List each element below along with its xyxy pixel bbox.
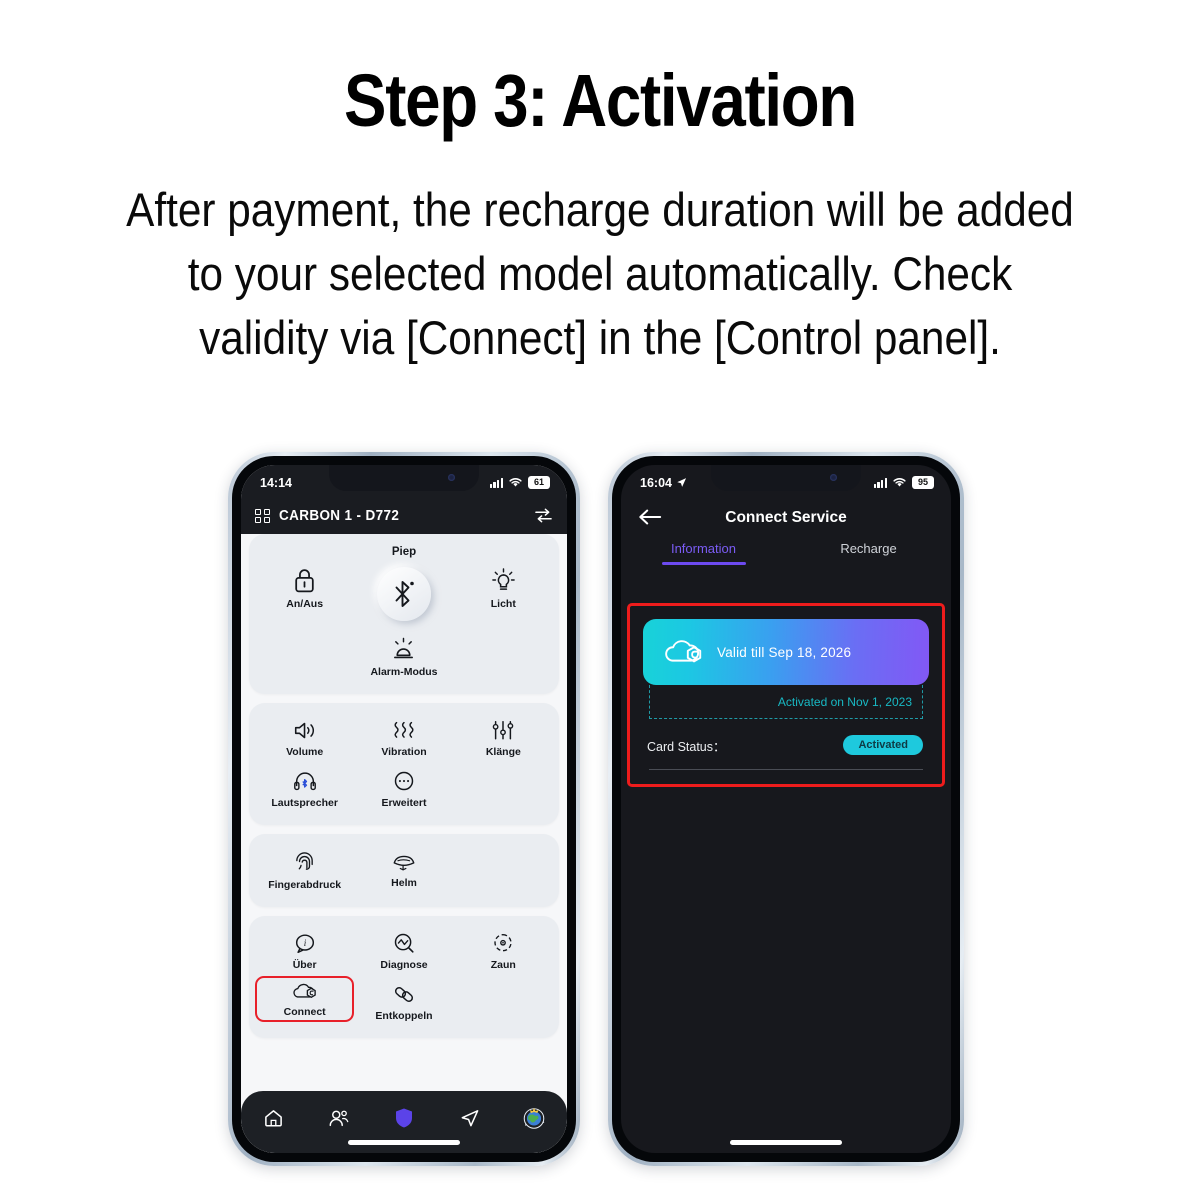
control-zaun[interactable]: Zaun: [454, 925, 553, 976]
home-indicator: [730, 1140, 842, 1145]
control-connect[interactable]: Connect: [255, 976, 354, 1022]
more-dots-circle-icon: [392, 770, 416, 793]
card-status-label: Card Status：: [647, 736, 726, 755]
wifi-icon: [508, 477, 523, 488]
activation-date: Activated on Nov 1, 2023: [778, 695, 912, 709]
phone-control-panel: 14:14 61: [228, 452, 580, 1166]
page-root: Step 3: Activation After payment, the re…: [0, 0, 1200, 1200]
home-icon: [263, 1108, 284, 1128]
control-label: Erweitert: [382, 797, 427, 809]
control-label: Über: [293, 959, 317, 971]
nav-navigate[interactable]: [449, 1105, 489, 1131]
group-system: i Über: [249, 916, 559, 1038]
lock-icon: [292, 567, 317, 594]
control-lautsprecher[interactable]: Lautsprecher: [255, 763, 354, 814]
notch: [329, 465, 479, 491]
validity-highlight-box: Valid till Sep 18, 2026 Activated on Nov…: [627, 603, 945, 787]
control-alarm-modus[interactable]: Alarm-Modus: [354, 630, 453, 683]
front-camera-icon: [448, 474, 455, 481]
control-label: Licht: [491, 598, 516, 610]
control-label: Entkoppeln: [375, 1010, 432, 1022]
phone2-app-header: Connect Service: [621, 495, 951, 541]
nav-globe[interactable]: [514, 1105, 554, 1131]
control-label: Zaun: [491, 959, 516, 971]
beep-label: Piep: [255, 546, 553, 558]
device-name: CARBON 1 - D772: [279, 508, 399, 524]
control-licht[interactable]: Licht: [454, 560, 553, 615]
bluetooth-toggle-button[interactable]: [377, 567, 431, 621]
control-label: Alarm-Modus: [370, 666, 437, 678]
shield-icon: [394, 1107, 414, 1129]
validity-card[interactable]: Valid till Sep 18, 2026: [643, 619, 929, 685]
signal-bars-icon: [874, 478, 887, 488]
fingerprint-icon: [293, 850, 316, 875]
bluetooth-icon: [390, 578, 417, 610]
control-diagnose[interactable]: Diagnose: [354, 925, 453, 976]
control-helm[interactable]: Helm: [354, 843, 453, 894]
control-erweitert[interactable]: Erweitert: [354, 763, 453, 814]
control-label: Lautsprecher: [271, 797, 338, 809]
page-title: Step 3: Activation: [84, 58, 1116, 143]
lightbulb-icon: [491, 567, 516, 594]
signal-bars-icon: [490, 478, 503, 488]
back-arrow-icon[interactable]: [638, 507, 662, 527]
control-volume[interactable]: Volume: [255, 712, 354, 763]
diagnostics-icon: [392, 932, 416, 955]
navigation-arrow-icon: [459, 1108, 480, 1129]
control-label: Helm: [391, 877, 417, 889]
activation-date-row: Activated on Nov 1, 2023: [649, 685, 923, 719]
people-icon: [328, 1108, 350, 1128]
control-label: Vibration: [381, 746, 426, 758]
status-badge: Activated: [843, 735, 923, 755]
info-bubble-icon: i: [293, 932, 317, 955]
vibration-icon: [391, 719, 417, 742]
headphones-bluetooth-icon: [292, 770, 318, 793]
battery-indicator: 61: [528, 476, 550, 490]
speaker-volume-icon: [292, 719, 318, 742]
card-status-row: Card Status： Activated: [643, 719, 929, 767]
tab-information[interactable]: Information: [621, 541, 786, 565]
cloud-connect-icon: [291, 981, 318, 1002]
svg-text:i: i: [303, 938, 306, 948]
helmet-icon: [391, 850, 417, 873]
phone2-tabs: Information Recharge: [621, 541, 951, 565]
control-bluetooth[interactable]: [354, 560, 453, 630]
front-camera-icon: [830, 474, 837, 481]
control-klaenge[interactable]: Klänge: [454, 712, 553, 763]
phone1-body: 14:14 61: [232, 456, 576, 1162]
phone1-screen: 14:14 61: [241, 465, 567, 1153]
control-fingerabdruck[interactable]: Fingerabdruck: [255, 843, 354, 896]
sliders-icon: [491, 719, 515, 742]
control-entkoppeln[interactable]: Entkoppeln: [354, 976, 453, 1027]
control-label: Volume: [286, 746, 323, 758]
phone2-screen: 16:04 95: [621, 465, 951, 1153]
unlink-icon: [392, 983, 416, 1006]
wifi-icon: [892, 477, 907, 488]
grid-menu-icon[interactable]: [255, 509, 270, 524]
divider: [649, 769, 923, 770]
control-ueber[interactable]: i Über: [255, 925, 354, 976]
control-vibration[interactable]: Vibration: [354, 712, 453, 763]
nav-community[interactable]: [319, 1105, 359, 1131]
control-an-aus[interactable]: An/Aus: [255, 560, 354, 615]
control-panel-body: Piep An/Aus: [241, 534, 567, 1153]
control-label: Diagnose: [380, 959, 427, 971]
geofence-icon: [491, 932, 515, 955]
nav-home[interactable]: [254, 1105, 294, 1131]
control-label: Connect: [284, 1006, 326, 1018]
location-arrow-icon: [676, 477, 687, 488]
group-primary: Piep An/Aus: [249, 534, 559, 694]
control-label: Fingerabdruck: [268, 879, 341, 891]
control-label: Klänge: [486, 746, 521, 758]
page-description: After payment, the recharge duration wil…: [60, 178, 1140, 370]
control-label: An/Aus: [286, 598, 323, 610]
notch: [711, 465, 861, 491]
status-time: 14:14: [260, 476, 292, 490]
validity-text: Valid till Sep 18, 2026: [717, 645, 851, 660]
group-security: Fingerabdruck Hel: [249, 834, 559, 907]
cloud-connect-icon: [663, 636, 705, 669]
group-sound: Volume Vibration: [249, 703, 559, 825]
screen-title: Connect Service: [725, 509, 846, 527]
home-indicator: [348, 1140, 460, 1145]
tab-recharge[interactable]: Recharge: [786, 541, 951, 565]
nav-shield[interactable]: [384, 1105, 424, 1131]
swap-arrows-icon[interactable]: [534, 507, 553, 524]
globe-icon: [521, 1105, 547, 1131]
status-time: 16:04: [640, 476, 672, 490]
phone2-body: 16:04 95: [612, 456, 960, 1162]
battery-indicator: 95: [912, 476, 934, 490]
phone-connect-service: 16:04 95: [608, 452, 964, 1166]
siren-icon: [391, 637, 416, 662]
